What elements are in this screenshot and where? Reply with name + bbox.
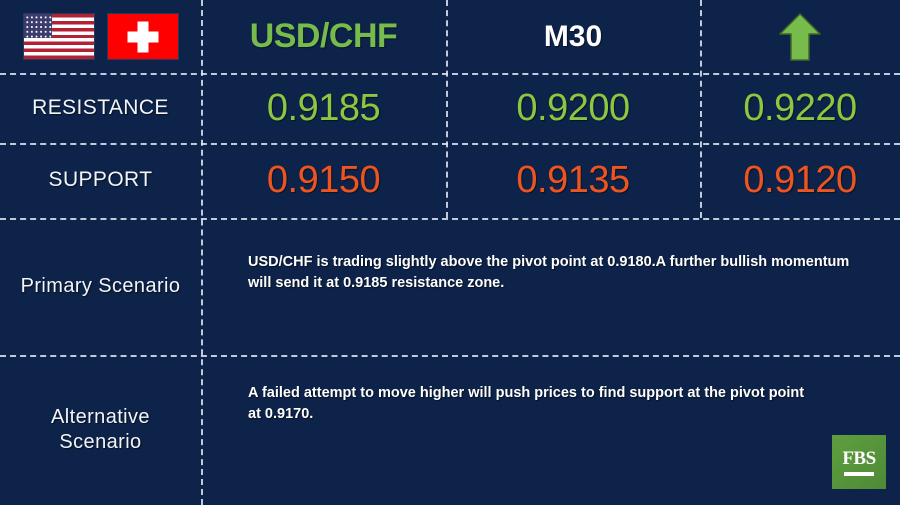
support-value-1-cell: 0.9150 xyxy=(201,143,446,218)
support-value-2-cell: 0.9135 xyxy=(446,143,700,218)
resistance-value-2: 0.9200 xyxy=(516,87,629,130)
resistance-value-3: 0.9220 xyxy=(743,87,856,130)
resistance-label: RESISTANCE xyxy=(32,95,169,121)
support-label-cell: SUPPORT xyxy=(0,143,201,218)
primary-scenario-text: USD/CHF is trading slightly above the pi… xyxy=(248,252,858,294)
timeframe-cell: M30 xyxy=(446,0,700,73)
support-value-2: 0.9135 xyxy=(516,159,629,202)
resistance-label-cell: RESISTANCE xyxy=(0,73,201,143)
trend-cell xyxy=(700,0,900,73)
resistance-value-1: 0.9185 xyxy=(267,87,380,130)
resistance-value-3-cell: 0.9220 xyxy=(700,73,900,143)
support-value-1: 0.9150 xyxy=(267,159,380,202)
currency-pair-cell: USD/CHF xyxy=(201,0,446,73)
resistance-value-2-cell: 0.9200 xyxy=(446,73,700,143)
support-value-3: 0.9120 xyxy=(743,159,856,202)
alternative-scenario-label: Alternative Scenario xyxy=(51,405,150,455)
arrow-up-icon xyxy=(778,12,822,62)
timeframe-label: M30 xyxy=(544,20,602,54)
flag-united-states-icon xyxy=(24,14,94,59)
swiss-cross-horizontal xyxy=(127,31,158,42)
currency-pair-title: USD/CHF xyxy=(250,17,398,56)
fbs-logo: FBS xyxy=(832,435,886,489)
forex-analysis-card: USD/CHF M30 RESISTANCE 0.9185 0.9200 0.9… xyxy=(0,0,900,505)
alternative-scenario-label-cell: Alternative Scenario xyxy=(0,355,201,505)
fbs-logo-bar xyxy=(844,472,874,476)
primary-scenario-label-cell: Primary Scenario xyxy=(0,218,201,355)
alternative-scenario-text: A failed attempt to move higher will pus… xyxy=(248,383,818,425)
primary-scenario-label: Primary Scenario xyxy=(21,274,181,299)
us-flag-stars xyxy=(24,14,52,38)
currency-flags xyxy=(0,0,201,73)
support-label: SUPPORT xyxy=(49,167,153,193)
us-flag-canton xyxy=(24,14,52,38)
alternative-scenario-label-line1: Alternative xyxy=(51,406,150,428)
fbs-logo-text: FBS xyxy=(842,449,875,468)
alternative-scenario-label-line2: Scenario xyxy=(59,431,141,453)
support-value-3-cell: 0.9120 xyxy=(700,143,900,218)
flag-switzerland-icon xyxy=(108,14,178,59)
resistance-value-1-cell: 0.9185 xyxy=(201,73,446,143)
